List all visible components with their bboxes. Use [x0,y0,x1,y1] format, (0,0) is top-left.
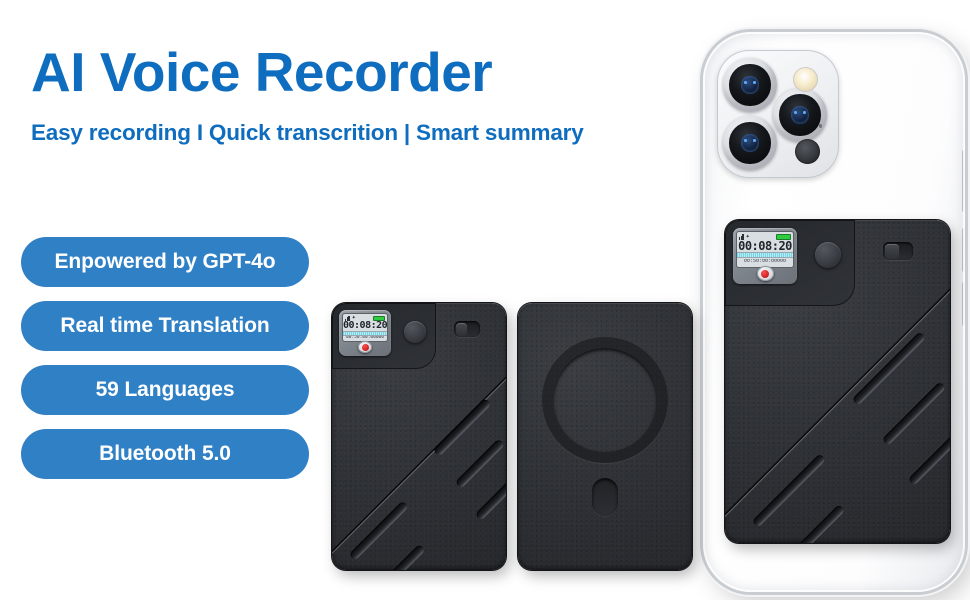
lcd-subtext: 00:50:00:00000 [343,336,387,341]
feature-pill-bluetooth[interactable]: Bluetooth 5.0 [21,429,309,479]
lens-inner [779,94,820,135]
feature-pill-realtime-translation[interactable]: Real time Translation [21,301,309,351]
lens-iris [741,134,758,151]
magsafe-ring [542,337,668,463]
lens-inner [729,122,770,163]
diagonal-stripe [377,544,426,570]
lcd-subtext: 00:50:00:00000 [737,259,793,264]
diagonal-stripe [433,398,492,457]
product-hero-banner: AI Voice Recorder Easy recording I Quick… [0,0,970,600]
lcd-screen: ✦ 00:08:20 00:50:00:00000 [342,313,388,342]
lens-iris [741,76,758,93]
camera-lens-telephoto [773,88,827,142]
microphone-icon [819,124,823,128]
record-indicator-icon [362,344,369,351]
record-button[interactable] [757,266,774,281]
recorder-display: ✦ 00:08:20 00:50:00:00000 [339,310,391,356]
diagonal-stripe [752,453,826,527]
camera-module [717,50,839,178]
feature-pill-list: Enpowered by GPT-4o Real time Translatio… [21,237,309,479]
recorder-front-left: ✦ 00:08:20 00:50:00:00000 [332,303,506,570]
slider-knob[interactable] [456,323,468,336]
camera-lens-wide [723,58,777,112]
diagonal-stripe [349,501,409,561]
recorder-display: ✦ 00:08:20 00:50:00:00000 [733,228,797,284]
feature-pill-languages[interactable]: 59 Languages [21,365,309,415]
phone-volume-up-button[interactable] [962,228,965,272]
lcd-timer: 00:08:20 [737,240,793,252]
lens-iris [791,106,808,123]
diagonal-stripe [475,480,506,520]
record-button[interactable] [358,341,372,353]
recorder-slider-switch[interactable] [883,242,913,260]
page-title: AI Voice Recorder [31,44,492,102]
camera-lens-ultrawide [723,116,777,170]
phone-volume-down-button[interactable] [962,282,965,326]
magsafe-alignment-pill [592,478,618,516]
diagonal-stripe [882,381,946,445]
diagonal-stripe [908,433,950,486]
recorder-slider-switch[interactable] [454,321,480,337]
diagonal-stripe [784,504,846,543]
lens-inner [729,64,770,105]
lcd-screen: ✦ 00:08:20 00:50:00:00000 [736,231,794,268]
slider-knob[interactable] [885,244,899,259]
recorder-action-button[interactable] [815,242,841,268]
recorder-action-button[interactable] [404,321,426,343]
diagonal-stripe [455,438,505,488]
lcd-waveform [737,252,793,258]
page-subtitle: Easy recording I Quick transcrition | Sm… [31,120,584,146]
lidar-sensor-icon [795,139,820,164]
feature-pill-gpt4o[interactable]: Enpowered by GPT-4o [21,237,309,287]
record-indicator-icon [761,270,769,278]
phone-power-button[interactable] [962,150,965,212]
diagonal-stripe [852,331,926,405]
recorder-back-magsafe [518,303,692,570]
camera-flash-icon [793,67,818,92]
lcd-timer: 00:08:20 [343,321,387,331]
recorder-attached-to-phone: ✦ 00:08:20 00:50:00:00000 [725,220,950,543]
smartphone: ✦ 00:08:20 00:50:00:00000 [703,32,965,592]
